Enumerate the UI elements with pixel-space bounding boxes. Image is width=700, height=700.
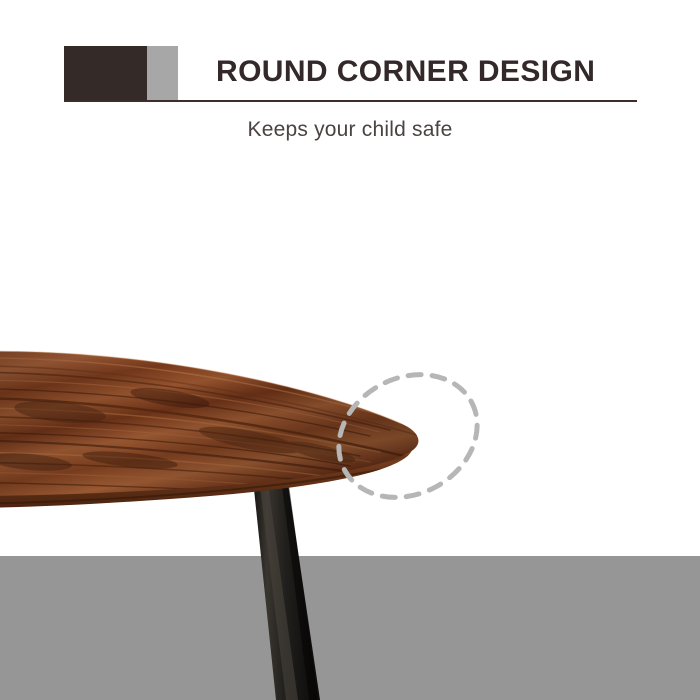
- header-swatch-dark: [64, 46, 147, 100]
- product-photo: [0, 0, 700, 700]
- floor-surface: [0, 556, 700, 700]
- product-feature-card: ROUND CORNER DESIGN Keeps your child saf…: [0, 0, 700, 700]
- header-swatch-gray: [147, 46, 178, 100]
- header-divider: [64, 100, 637, 102]
- page-title: ROUND CORNER DESIGN: [216, 50, 636, 94]
- photo-svg: [0, 0, 700, 700]
- page-subtitle: Keeps your child safe: [0, 118, 700, 142]
